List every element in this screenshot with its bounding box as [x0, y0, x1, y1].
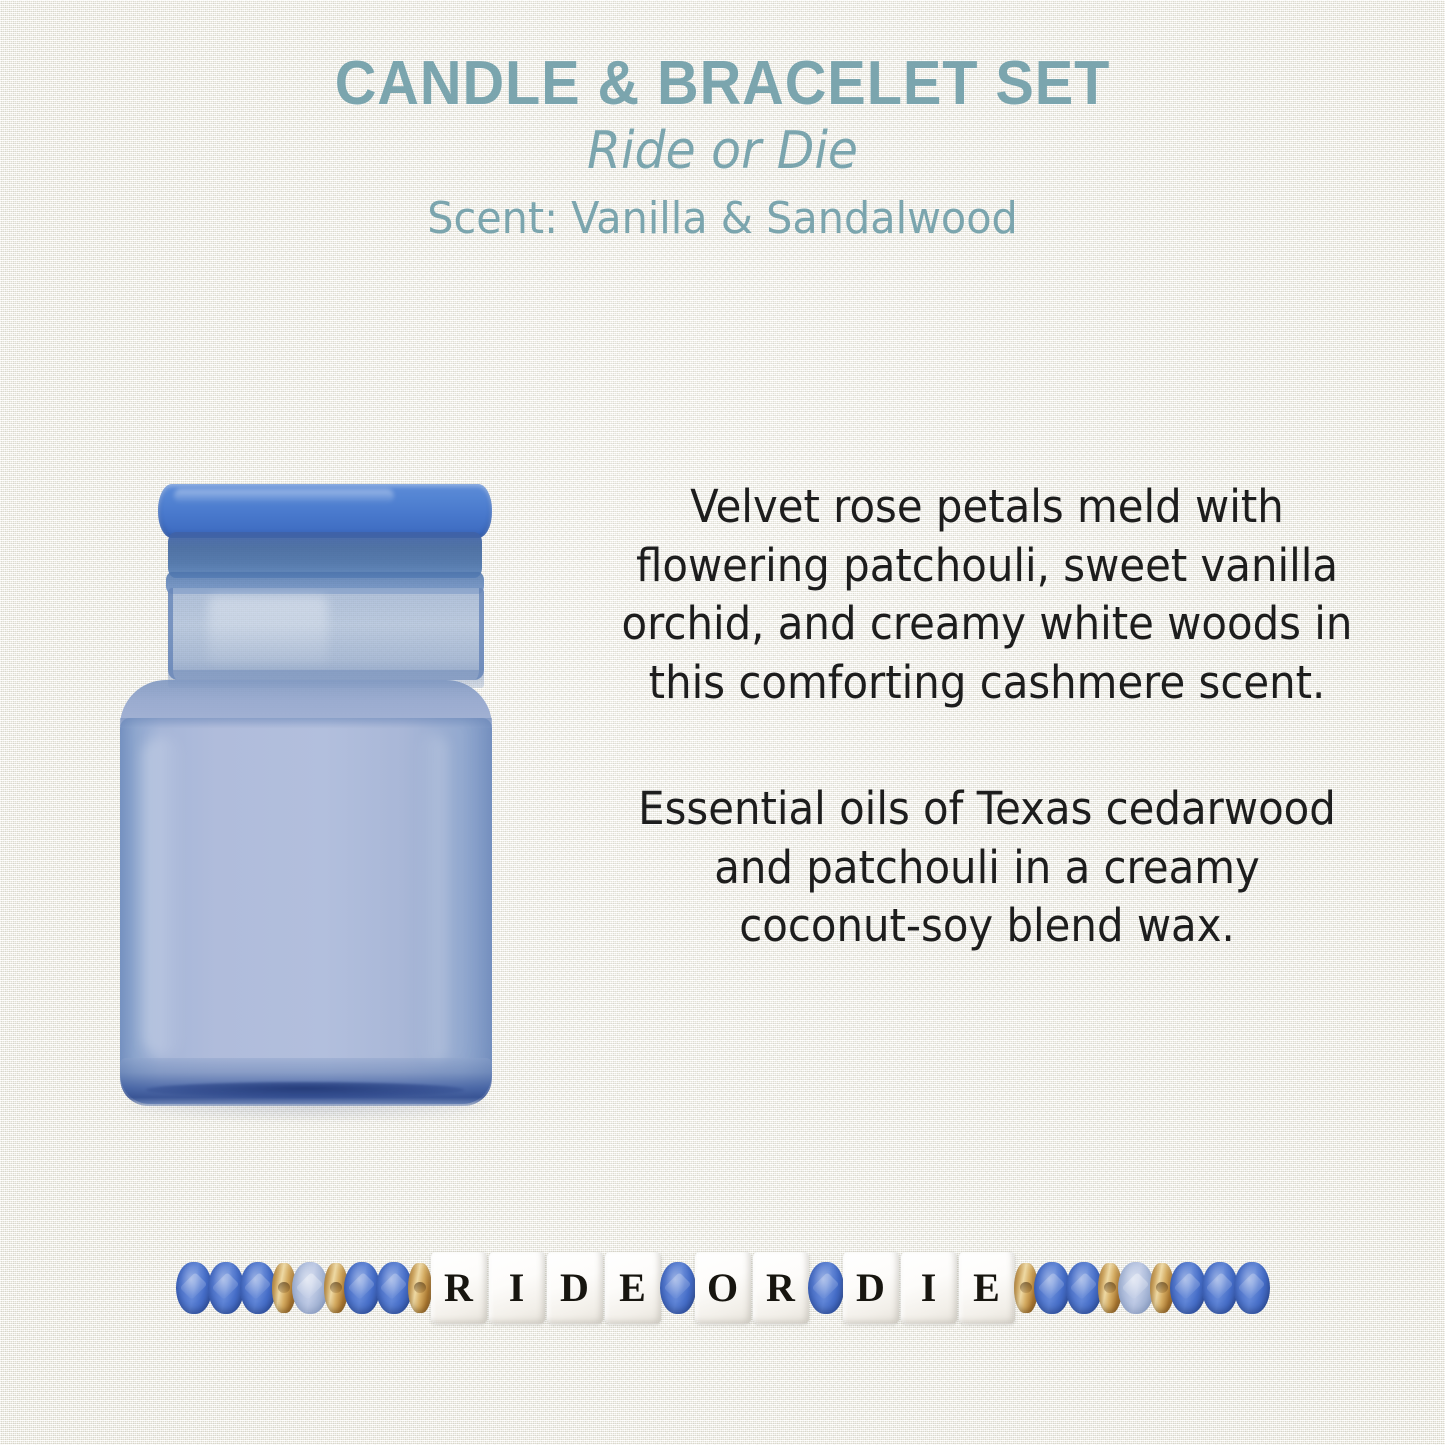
crystal-bead-royal [376, 1262, 412, 1314]
scent-label: Scent: Vanilla & Sandalwood [43, 193, 1401, 246]
letter-bead: I [901, 1252, 957, 1324]
header-block: CANDLE & BRACELET SET Ride or Die Scent:… [0, 52, 1445, 245]
product-description: Velvet rose petals meld with flowering p… [592, 478, 1382, 956]
bracelet-bead-strand: RIDEORDIE [178, 1233, 1268, 1343]
crystal-bead-royal [808, 1262, 844, 1314]
letter-bead: R [431, 1252, 487, 1324]
letter-bead: E [959, 1252, 1015, 1324]
jar-right-highlight [418, 734, 448, 1064]
letter-bead: D [547, 1252, 603, 1324]
crystal-bead-royal [660, 1262, 696, 1314]
crystal-bead-royal [208, 1262, 244, 1314]
crystal-bead-royal [176, 1262, 212, 1314]
crystal-bead-pale [292, 1262, 328, 1314]
crystal-bead-royal [344, 1262, 380, 1314]
letter-bead: I [489, 1252, 545, 1324]
description-paragraph-1: Velvet rose petals meld with flowering p… [620, 478, 1355, 712]
crystal-bead-royal [1034, 1262, 1070, 1314]
page-title: CANDLE & BRACELET SET [51, 52, 1395, 115]
description-paragraph-2: Essential oils of Texas cedarwood and pa… [620, 780, 1355, 956]
jar-wax-surface [120, 718, 492, 728]
crystal-bead-royal [240, 1262, 276, 1314]
bracelet-image: RIDEORDIE [0, 1228, 1445, 1348]
letter-bead: D [843, 1252, 899, 1324]
product-image-canvas: CANDLE & BRACELET SET Ride or Die Scent:… [0, 0, 1445, 1445]
crystal-bead-royal [1234, 1262, 1270, 1314]
letter-bead: R [753, 1252, 809, 1324]
crystal-bead-pale [1118, 1262, 1154, 1314]
jar-base-shadow [146, 1082, 464, 1098]
jar-lid-highlight [174, 489, 394, 503]
crystal-bead-royal [1066, 1262, 1102, 1314]
letter-bead: E [605, 1252, 661, 1324]
jar-neck-highlight [208, 596, 328, 666]
jar-left-highlight [142, 736, 182, 1056]
product-subtitle: Ride or Die [43, 121, 1401, 182]
crystal-bead-royal [1170, 1262, 1206, 1314]
crystal-bead-royal [1202, 1262, 1238, 1314]
letter-bead: O [695, 1252, 751, 1324]
candle-jar-image [112, 484, 502, 1114]
gold-spacer-bead [408, 1263, 432, 1313]
